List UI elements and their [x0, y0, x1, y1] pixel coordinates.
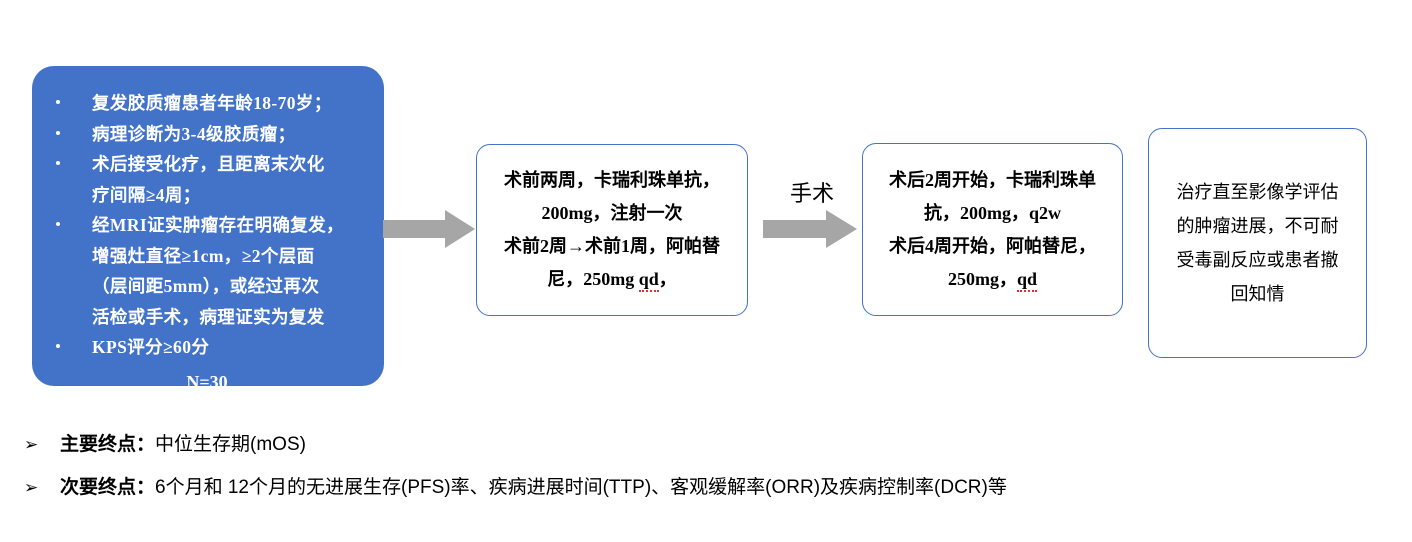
primary-endpoint-row: ➢ 主要终点： 中位生存期(mOS) — [24, 430, 1364, 460]
endpoints-section: ➢ 主要终点： 中位生存期(mOS) ➢ 次要终点： 6个月和 12个月的无进展… — [24, 430, 1364, 516]
postop-line-4: 250mg，qd — [948, 263, 1037, 296]
criteria-item-text: 经MRI证实肿瘤存在明确复发， — [92, 215, 344, 235]
bullet-dot-icon — [56, 161, 60, 165]
secondary-endpoint-text: 6个月和 12个月的无进展生存(PFS)率、疾病进展时间(TTP)、客观缓解率(… — [155, 473, 1007, 503]
preop-line-4-qd: qd — [639, 269, 659, 292]
eligibility-criteria-list: 复发胶质瘤患者年龄18-70岁； 病理诊断为3-4级胶质瘤； 术后接受化疗，且距… — [46, 88, 368, 363]
treatment-until-progression-box: 治疗直至影像学评估 的肿瘤进展，不可耐 受毒副反应或患者撤 回知情 — [1148, 128, 1367, 358]
followup-line-1: 治疗直至影像学评估 — [1177, 175, 1339, 209]
arrow-bullet-icon: ➢ — [24, 430, 60, 460]
eligibility-criteria-box: 复发胶质瘤患者年龄18-70岁； 病理诊断为3-4级胶质瘤； 术后接受化疗，且距… — [32, 66, 384, 386]
criteria-item-chemo-interval: 术后接受化疗，且距离末次化 疗间隔≥4周； — [46, 149, 368, 210]
preop-line-4-prefix: 尼，250mg — [547, 269, 639, 289]
postop-line-4-prefix: 250mg， — [948, 269, 1017, 289]
secondary-endpoint-row: ➢ 次要终点： 6个月和 12个月的无进展生存(PFS)率、疾病进展时间(TTP… — [24, 473, 1364, 503]
enrollment-count: N=30 — [46, 365, 368, 399]
bullet-dot-icon — [56, 344, 60, 348]
criteria-item-text-cont: 活检或手术，病理证实为复发 — [92, 307, 325, 327]
followup-line-3: 受毒副反应或患者撤 — [1177, 243, 1339, 277]
arrow-bullet-icon: ➢ — [24, 473, 60, 503]
postop-line-3: 术后4周开始，阿帕替尼， — [889, 230, 1096, 263]
followup-line-4: 回知情 — [1231, 277, 1285, 311]
primary-endpoint-label: 主要终点： — [60, 430, 155, 460]
postoperative-treatment-box: 术后2周开始，卡瑞利珠单 抗，200mg，q2w 术后4周开始，阿帕替尼， 25… — [862, 143, 1123, 316]
criteria-item-text: 术后接受化疗，且距离末次化 — [92, 154, 325, 174]
postop-line-1: 术后2周开始，卡瑞利珠单 — [889, 164, 1096, 197]
preop-line-3: 术前2周→术前1周，阿帕替 — [504, 230, 720, 263]
postop-line-4-qd: qd — [1017, 269, 1037, 292]
primary-endpoint-text: 中位生存期(mOS) — [155, 430, 306, 460]
criteria-item-mri-recurrence: 经MRI证实肿瘤存在明确复发， 增强灶直径≥1cm，≥2个层面 （层间距5mm）… — [46, 210, 368, 332]
bullet-dot-icon — [56, 222, 60, 226]
criteria-item-text: KPS评分≥60分 — [92, 337, 209, 357]
preop-line-1: 术前两周，卡瑞利珠单抗， — [504, 164, 720, 197]
criteria-item-text: 病理诊断为3-4级胶质瘤； — [92, 124, 296, 144]
criteria-item-age: 复发胶质瘤患者年龄18-70岁； — [46, 88, 368, 119]
preoperative-treatment-box: 术前两周，卡瑞利珠单抗， 200mg，注射一次 术前2周→术前1周，阿帕替 尼，… — [476, 144, 748, 316]
criteria-item-text-cont: 增强灶直径≥1cm，≥2个层面 — [92, 246, 315, 266]
followup-line-2: 的肿瘤进展，不可耐 — [1177, 209, 1339, 243]
criteria-item-text-cont: （层间距5mm），或经过再次 — [92, 276, 319, 296]
bullet-dot-icon — [56, 131, 60, 135]
criteria-item-text-cont: 疗间隔≥4周； — [92, 185, 201, 205]
surgery-step-label: 手术 — [770, 180, 854, 208]
arrow-to-postop-icon — [763, 210, 857, 248]
postop-line-2: 抗，200mg，q2w — [924, 197, 1061, 230]
bullet-dot-icon — [56, 100, 60, 104]
criteria-item-text: 复发胶质瘤患者年龄18-70岁； — [92, 93, 332, 113]
preop-line-2: 200mg，注射一次 — [542, 197, 683, 230]
secondary-endpoint-label: 次要终点： — [60, 473, 155, 503]
preop-line-4-suffix: ， — [659, 269, 677, 289]
preop-line-4: 尼，250mg qd， — [547, 263, 677, 296]
arrow-to-preop-icon — [383, 210, 475, 248]
criteria-item-pathology: 病理诊断为3-4级胶质瘤； — [46, 119, 368, 150]
criteria-item-kps: KPS评分≥60分 — [46, 332, 368, 363]
